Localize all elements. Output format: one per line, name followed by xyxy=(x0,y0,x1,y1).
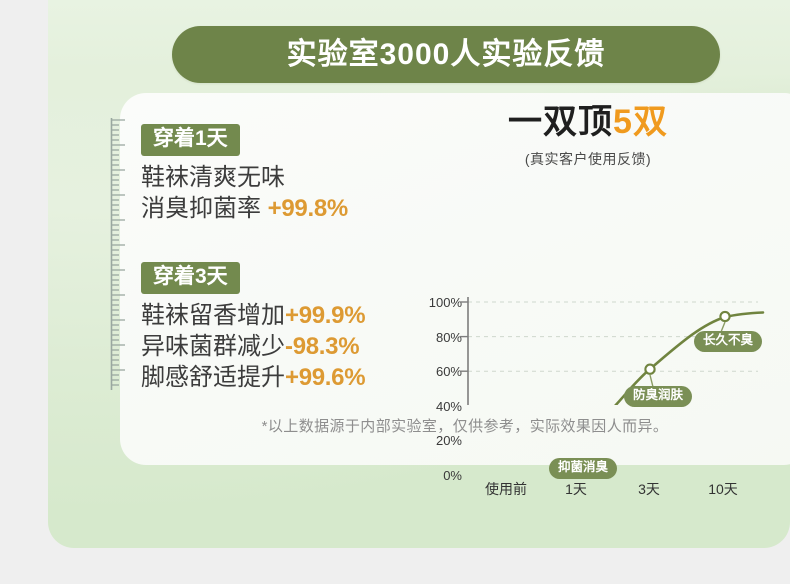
stat-label: 鞋袜清爽无味 xyxy=(141,164,285,191)
footnote-disclaimer: *以上数据源于内部实验室，仅供参考，实际效果因人而异。 xyxy=(120,415,790,436)
stat-row: 鞋袜留香增加+99.9% xyxy=(141,300,365,331)
stat-value: +99.8% xyxy=(268,195,348,222)
chart-plot-area xyxy=(418,175,790,405)
chart-headline: 一双顶5双 xyxy=(418,105,758,139)
y-tick-label: 0% xyxy=(418,468,462,483)
stat-row: 消臭抑菌率 +99.8% xyxy=(141,193,348,224)
stat-label: 异味菌群减少 xyxy=(141,333,285,360)
x-tick-label: 10天 xyxy=(688,479,758,499)
stat-lines-day1: 鞋袜清爽无味 消臭抑菌率 +99.8% xyxy=(141,162,348,224)
badge-day3: 穿着3天 xyxy=(141,262,240,294)
x-tick-label: 使用前 xyxy=(471,479,541,499)
data-point-marker xyxy=(720,312,729,321)
stat-value: +99.6% xyxy=(285,364,365,391)
data-point-marker xyxy=(645,365,654,374)
stat-label: 鞋袜留香增加 xyxy=(141,302,285,329)
header-banner: 实验室3000人实验反馈 xyxy=(172,26,720,83)
chart-subheadline: (真实客户使用反馈) xyxy=(418,149,758,169)
page-title: 实验室3000人实验反馈 xyxy=(287,40,606,70)
stat-label: 脚感舒适提升 xyxy=(141,364,285,391)
stat-block-day1: 穿着1天 鞋袜清爽无味 消臭抑菌率 +99.8% xyxy=(141,124,348,224)
stat-row: 鞋袜清爽无味 xyxy=(141,162,348,193)
stat-row: 异味菌群减少-98.3% xyxy=(141,331,365,362)
stat-value: -98.3% xyxy=(285,333,359,360)
right-chart-column: 一双顶5双 (真实客户使用反馈) 100% 80% 60% 40% 20% 0% xyxy=(418,105,790,405)
x-tick-label: 3天 xyxy=(614,479,684,499)
headline-accent: 5双 xyxy=(613,103,668,141)
annotation-pill: 长久不臭 xyxy=(694,331,762,352)
annotation-pill: 抑菌消臭 xyxy=(549,458,617,479)
effectiveness-line-chart: 100% 80% 60% 40% 20% 0% xyxy=(418,175,790,405)
headline-plain: 一双顶 xyxy=(508,103,613,141)
stat-label: 消臭抑菌率 xyxy=(141,195,261,222)
green-background-panel: 实验室3000人实验反馈 xyxy=(48,0,790,548)
x-tick-label: 1天 xyxy=(541,479,611,499)
stat-row: 脚感舒适提升+99.6% xyxy=(141,362,365,393)
stat-block-day3: 穿着3天 鞋袜留香增加+99.9% 异味菌群减少-98.3% 脚感舒适提升+99… xyxy=(141,262,365,393)
badge-day1: 穿着1天 xyxy=(141,124,240,156)
vertical-ruler-icon xyxy=(108,118,128,390)
stat-lines-day3: 鞋袜留香增加+99.9% 异味菌群减少-98.3% 脚感舒适提升+99.6% xyxy=(141,300,365,394)
stat-value: +99.9% xyxy=(285,302,365,329)
annotation-pill: 防臭润肤 xyxy=(624,386,692,407)
left-stats-column: 穿着1天 鞋袜清爽无味 消臭抑菌率 +99.8% 穿着3天 鞋袜留香增加+99.… xyxy=(108,118,408,408)
